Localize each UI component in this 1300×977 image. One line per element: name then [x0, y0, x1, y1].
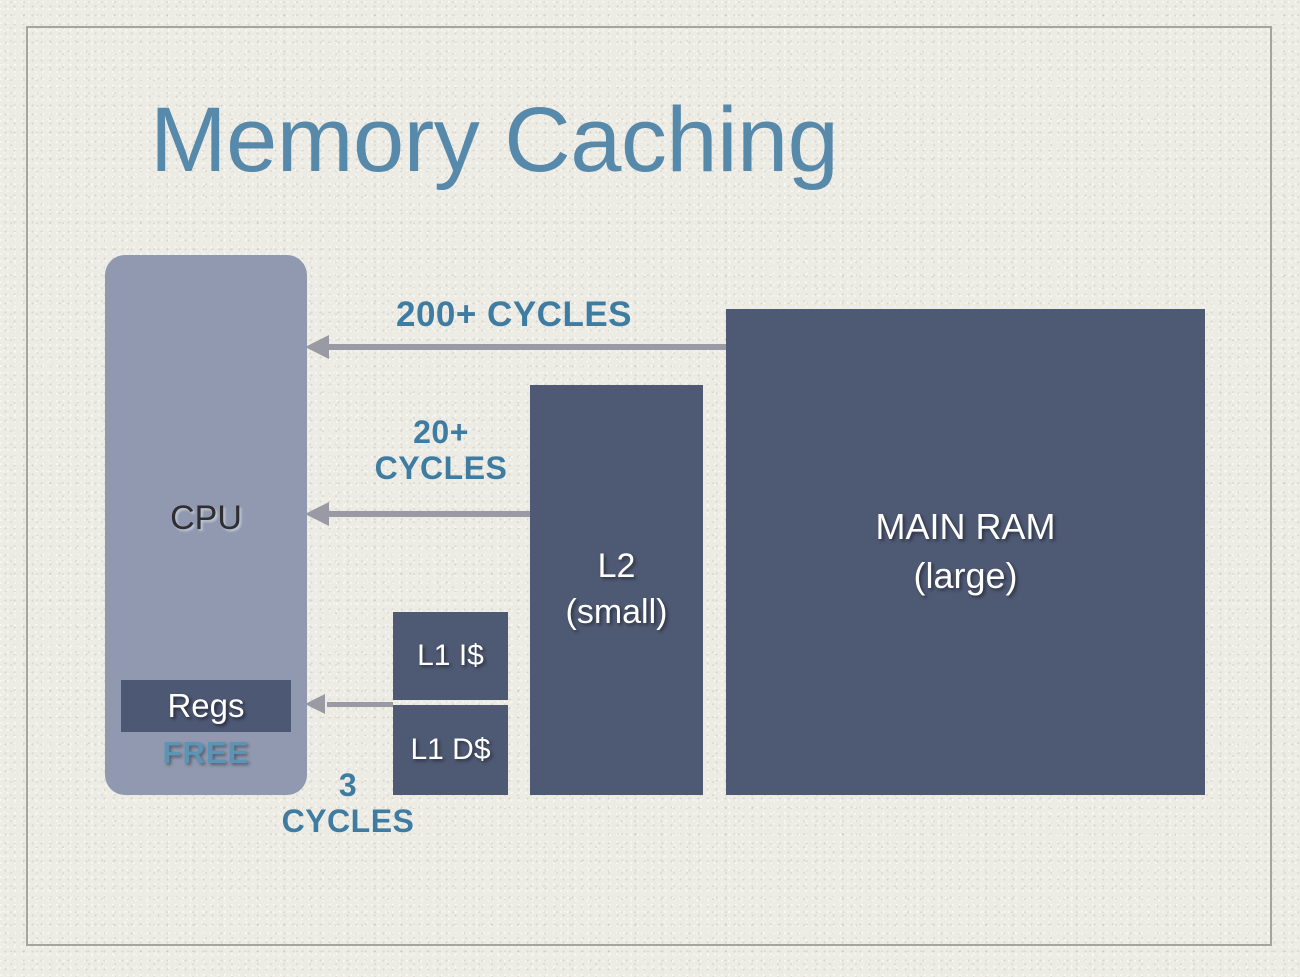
- registers-label: Regs: [121, 680, 291, 732]
- arrow-head-left-icon: [305, 694, 325, 714]
- arrow-l2-to-cpu: [305, 507, 531, 521]
- arrow-shaft: [327, 511, 531, 517]
- arrow-head-left-icon: [305, 335, 329, 359]
- l1-instruction-cache-box: L1 I$: [393, 612, 508, 700]
- main-ram-box: MAIN RAM (large): [726, 309, 1205, 795]
- l2-cache-label: L2: [598, 544, 636, 590]
- l1-data-cache-label: L1 D$: [410, 733, 490, 767]
- cpu-box: CPU Regs FREE: [105, 255, 307, 795]
- latency-label-l2: 20+ CYCLES: [330, 415, 552, 487]
- slide-canvas: Memory Caching 200+ CYCLES 20+ CYCLES 3 …: [0, 0, 1300, 977]
- arrow-l1-to-regs: [305, 697, 393, 711]
- arrow-shaft: [327, 702, 393, 707]
- l1-data-cache-box: L1 D$: [393, 705, 508, 795]
- l2-cache-size-note: (small): [566, 590, 668, 636]
- registers-box: Regs: [121, 680, 291, 732]
- main-ram-size-note: (large): [913, 552, 1017, 601]
- l2-cache-box: L2 (small): [530, 385, 703, 795]
- page-title: Memory Caching: [150, 92, 838, 189]
- cpu-label: CPU: [105, 499, 307, 538]
- latency-label-ram: 200+ CYCLES: [334, 295, 694, 334]
- arrow-shaft: [327, 344, 726, 350]
- arrow-ram-to-cpu: [305, 340, 726, 354]
- main-ram-label: MAIN RAM: [876, 503, 1056, 552]
- arrow-head-left-icon: [305, 502, 329, 526]
- registers-cost-label: FREE: [121, 735, 291, 771]
- l1-instruction-cache-label: L1 I$: [417, 639, 484, 673]
